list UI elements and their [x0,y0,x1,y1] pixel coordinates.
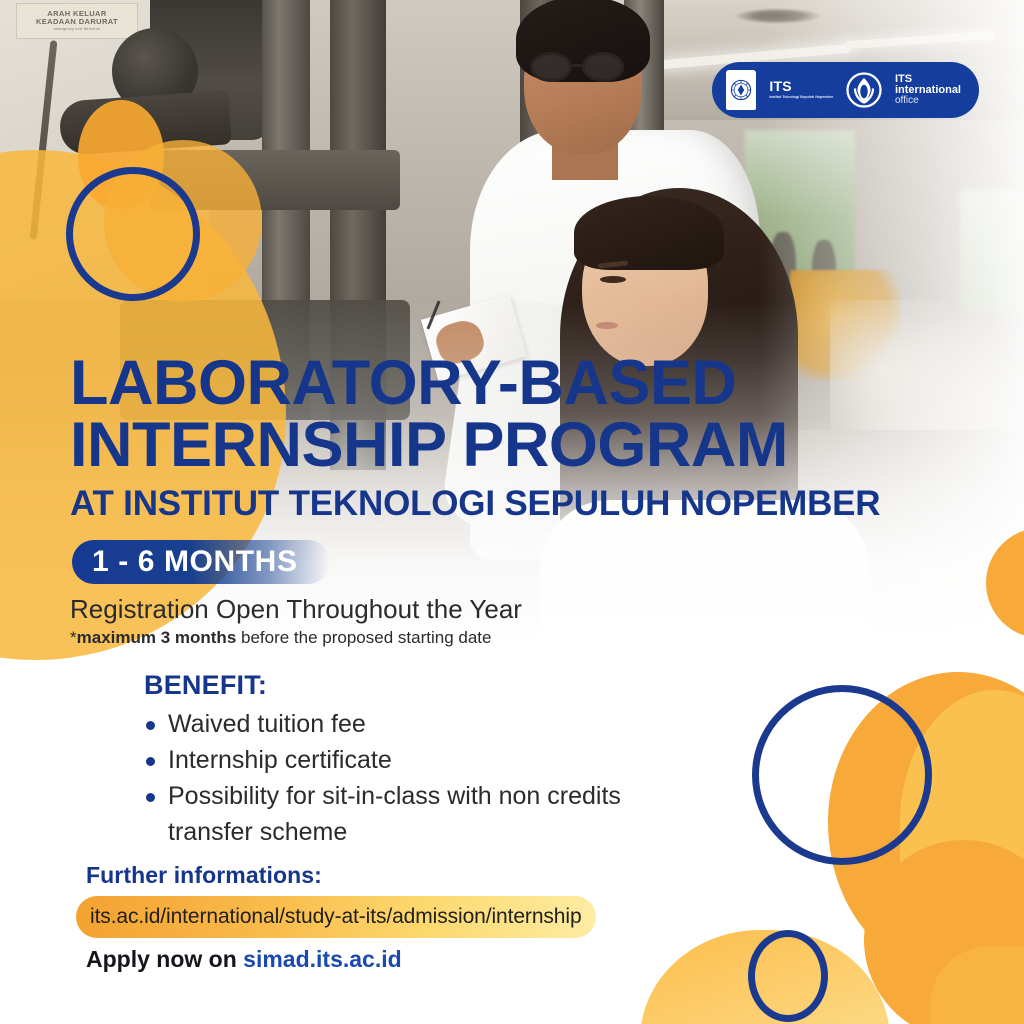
registration-status: Registration Open Throughout the Year [70,594,522,625]
note-rest: before the proposed starting date [236,628,491,647]
note-bold: maximum 3 months [77,628,237,647]
info-url-pill[interactable]: its.ac.id/international/study-at-its/adm… [76,896,596,938]
logo-badge: ITS Institut Teknologi Sepuluh Nopember … [712,62,979,118]
list-item: Waived tuition fee [144,706,704,742]
apply-link[interactable]: simad.its.ac.id [243,946,402,972]
list-item: Possibility for sit-in-class with non cr… [144,778,704,850]
poster-canvas: ARAH KELUAR KEADAAN DARURAT emergency ex… [0,0,1024,1024]
international-office-wordmark: ITS international office [895,74,961,107]
list-item: Internship certificate [144,742,704,778]
benefit-list: Waived tuition fee Internship certificat… [144,706,704,850]
io-line-3: office [895,96,961,106]
its-international-office-emblem-icon [846,72,882,108]
info-url-text[interactable]: its.ac.id/international/study-at-its/adm… [90,905,582,929]
apply-line: Apply now on simad.its.ac.id [86,946,402,973]
duration-badge-label: 1 - 6 MONTHS [72,545,298,579]
poster-content: LABORATORY-BASED INTERNSHIP PROGRAM AT I… [0,0,1024,1024]
its-shield-icon [726,70,756,110]
its-acronym: ITS [769,79,833,93]
benefit-heading: BENEFIT: [144,670,267,701]
registration-note: *maximum 3 months before the proposed st… [70,628,491,648]
duration-badge: 1 - 6 MONTHS [72,540,330,584]
its-logo-wordmark: ITS Institut Teknologi Sepuluh Nopember [769,79,833,100]
apply-prefix: Apply now on [86,946,243,972]
headline-line-2: INTERNSHIP PROGRAM [70,414,788,476]
note-asterisk: * [70,628,77,647]
further-info-label: Further informations: [86,862,322,889]
headline-line-1: LABORATORY-BASED [70,348,736,418]
page-title: LABORATORY-BASED INTERNSHIP PROGRAM [70,352,788,476]
subtitle: AT INSTITUT TEKNOLOGI SEPULUH NOPEMBER [70,484,880,524]
its-fullname: Institut Teknologi Sepuluh Nopember [769,95,833,100]
